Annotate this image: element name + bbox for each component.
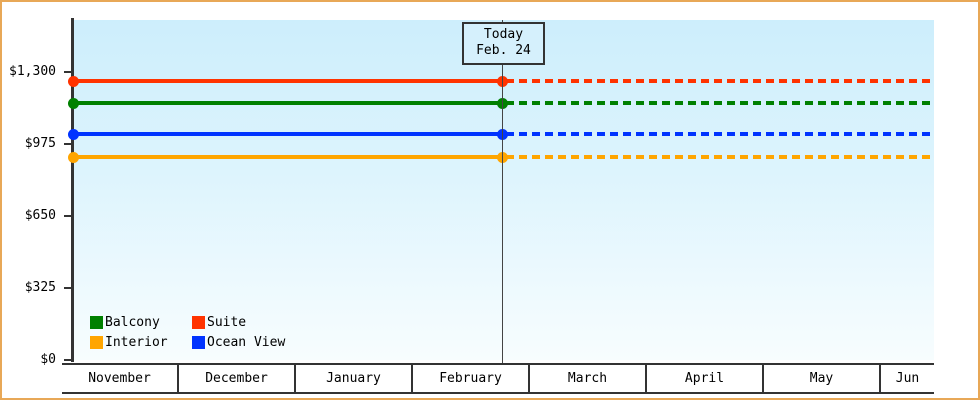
today-vertical-line <box>502 20 503 364</box>
series-line-solid <box>73 101 502 105</box>
series-line-forecast-dotted <box>506 101 934 105</box>
x-axis-month-cell[interactable]: Jun <box>881 365 934 392</box>
legend-label: Suite <box>207 315 246 330</box>
legend-label: Ocean View <box>207 335 285 350</box>
series-line-solid <box>73 132 502 136</box>
y-axis-tick <box>64 359 72 361</box>
legend-label: Balcony <box>105 315 160 330</box>
y-axis-tick <box>64 215 72 217</box>
x-axis-month-cell[interactable]: February <box>413 365 530 392</box>
y-axis-tick <box>64 287 72 289</box>
x-axis-month-cell[interactable]: May <box>764 365 881 392</box>
series-start-point[interactable] <box>68 129 79 140</box>
x-axis-month-cell[interactable]: April <box>647 365 764 392</box>
y-axis-line <box>71 18 74 362</box>
today-date: Feb. 24 <box>474 43 533 59</box>
y-axis-label: $1,300 <box>9 65 56 78</box>
series-line-forecast-dotted <box>506 132 934 136</box>
legend-item-ocean-view[interactable]: Ocean View <box>192 332 285 352</box>
x-axis-month-cell[interactable]: March <box>530 365 647 392</box>
legend-swatch-icon <box>192 336 205 349</box>
plot-area <box>73 20 934 360</box>
legend-swatch-icon <box>90 316 103 329</box>
series-start-point[interactable] <box>68 152 79 163</box>
series-line-forecast-dotted <box>506 155 934 159</box>
y-axis-tick <box>64 71 72 73</box>
series-start-point[interactable] <box>68 76 79 87</box>
legend-swatch-icon <box>90 336 103 349</box>
legend-swatch-icon <box>192 316 205 329</box>
series-line-solid <box>73 155 502 159</box>
y-axis-label: $650 <box>25 209 56 222</box>
legend-item-balcony[interactable]: Balcony <box>90 312 186 332</box>
legend-item-suite[interactable]: Suite <box>192 312 285 332</box>
series-line-solid <box>73 79 502 83</box>
x-axis-month-cell[interactable]: January <box>296 365 413 392</box>
chart-legend: BalconySuiteInteriorOcean View <box>90 312 285 352</box>
series-start-point[interactable] <box>68 98 79 109</box>
legend-label: Interior <box>105 335 168 350</box>
today-label: Today <box>474 27 533 43</box>
y-axis-label: $975 <box>25 137 56 150</box>
x-axis-months: NovemberDecemberJanuaryFebruaryMarchApri… <box>62 363 934 394</box>
today-annotation-box: Today Feb. 24 <box>462 22 545 65</box>
y-axis-tick <box>64 143 72 145</box>
x-axis-month-cell[interactable]: December <box>179 365 296 392</box>
y-axis-label: $325 <box>25 281 56 294</box>
price-trend-chart: $1,300$975$650$325$0 Today Feb. 24 Balco… <box>0 0 980 400</box>
x-axis-month-cell[interactable]: November <box>62 365 179 392</box>
y-axis-label: $0 <box>40 353 56 366</box>
legend-item-interior[interactable]: Interior <box>90 332 186 352</box>
series-line-forecast-dotted <box>506 79 934 83</box>
